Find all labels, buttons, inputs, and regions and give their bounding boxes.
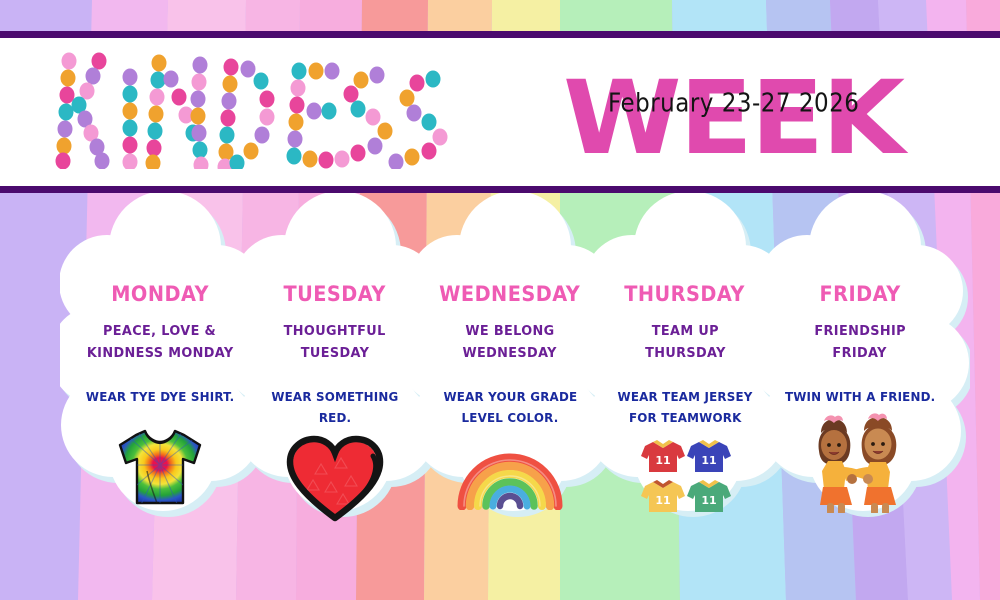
card-content-tuesday: TUESDAY THOUGHTFUL TUESDAY WEAR SOMETHIN… [235, 193, 435, 600]
day-theme-line1-monday: PEACE, LOVE & [103, 321, 216, 343]
kindness-week-poster: WEEK February 23-27 2026 [0, 0, 1000, 600]
friend-left [819, 415, 870, 513]
svg-text:11: 11 [655, 454, 670, 467]
day-theme-line2-thursday: THURSDAY [645, 343, 726, 365]
jersey-yellow: 11 [641, 480, 685, 512]
two-friends-hugging-icon [808, 409, 912, 513]
rainbow-icon [455, 438, 565, 510]
tie-dye-shirt-icon [112, 419, 208, 515]
team-jerseys-icon: 11 11 11 [639, 436, 731, 512]
day-theme-line2-wednesday: WEDNESDAY [463, 343, 557, 365]
team-jerseys-svg: 11 11 11 [639, 436, 731, 512]
day-instruction-line1-monday: WEAR TYE DYE SHIRT. [86, 386, 234, 407]
card-content-monday: MONDAY PEACE, LOVE & KINDNESS MONDAY WEA… [60, 193, 260, 600]
day-card-monday[interactable]: MONDAY PEACE, LOVE & KINDNESS MONDAY WEA… [60, 193, 260, 600]
day-title-monday: MONDAY [111, 283, 209, 305]
day-theme-line1-thursday: TEAM UP [651, 321, 718, 343]
day-instruction-line2-thursday: FOR TEAMWORK [629, 407, 742, 428]
card-content-friday: FRIDAY FRIENDSHIP FRIDAY TWIN WITH A FRI… [760, 193, 960, 600]
svg-text:11: 11 [701, 494, 716, 507]
date-range-text: February 23-27 2026 [608, 89, 859, 118]
day-title-friday: FRIDAY [819, 283, 900, 305]
day-instruction-line1-friday: TWIN WITH A FRIEND. [785, 386, 935, 407]
svg-text:11: 11 [655, 494, 670, 507]
day-title-wednesday: WEDNESDAY [439, 283, 580, 305]
title-area: WEEK February 23-27 2026 [0, 37, 1000, 186]
red-heart-icon [285, 434, 385, 522]
day-title-tuesday: TUESDAY [284, 283, 386, 305]
day-instruction-line2-tuesday: RED. [319, 407, 351, 428]
day-instruction-line1-tuesday: WEAR SOMETHING [271, 386, 398, 407]
friend-right [844, 413, 896, 513]
two-friends-hugging-svg [808, 409, 912, 513]
day-title-thursday: THURSDAY [625, 283, 746, 305]
day-instruction-line1-wednesday: WEAR YOUR GRADE [443, 386, 577, 407]
day-card-tuesday[interactable]: TUESDAY THOUGHTFUL TUESDAY WEAR SOMETHIN… [235, 193, 435, 600]
card-content-thursday: THURSDAY TEAM UP THURSDAY WEAR TEAM JERS… [585, 193, 785, 600]
card-content-wednesday: WEDNESDAY WE BELONG WEDNESDAY WEAR YOUR … [410, 193, 610, 600]
day-instruction-line2-wednesday: LEVEL COLOR. [462, 407, 559, 428]
day-theme-line1-wednesday: WE BELONG [465, 321, 554, 343]
day-card-friday[interactable]: FRIDAY FRIENDSHIP FRIDAY TWIN WITH A FRI… [760, 193, 960, 600]
day-instruction-line1-thursday: WEAR TEAM JERSEY [617, 386, 752, 407]
red-heart-svg [285, 434, 385, 522]
tie-dye-shirt-svg [112, 419, 208, 515]
svg-text:11: 11 [701, 454, 716, 467]
day-card-wednesday[interactable]: WEDNESDAY WE BELONG WEDNESDAY WEAR YOUR … [410, 193, 610, 600]
day-theme-line2-friday: FRIDAY [833, 343, 887, 365]
day-theme-line1-friday: FRIENDSHIP [814, 321, 905, 343]
bottom-purple-band [0, 186, 1000, 193]
day-theme-line2-monday: KINDNESS MONDAY [87, 343, 234, 365]
kindness-dotted-title [55, 49, 575, 169]
day-card-thursday[interactable]: THURSDAY TEAM UP THURSDAY WEAR TEAM JERS… [585, 193, 785, 600]
jersey-green: 11 [687, 480, 731, 512]
day-theme-line1-tuesday: THOUGHTFUL [284, 321, 386, 343]
day-cards-row: MONDAY PEACE, LOVE & KINDNESS MONDAY WEA… [0, 193, 1000, 600]
rainbow-svg [455, 438, 565, 510]
jersey-blue: 11 [687, 440, 731, 472]
day-theme-line2-tuesday: TUESDAY [301, 343, 369, 365]
jersey-red: 11 [641, 440, 685, 472]
